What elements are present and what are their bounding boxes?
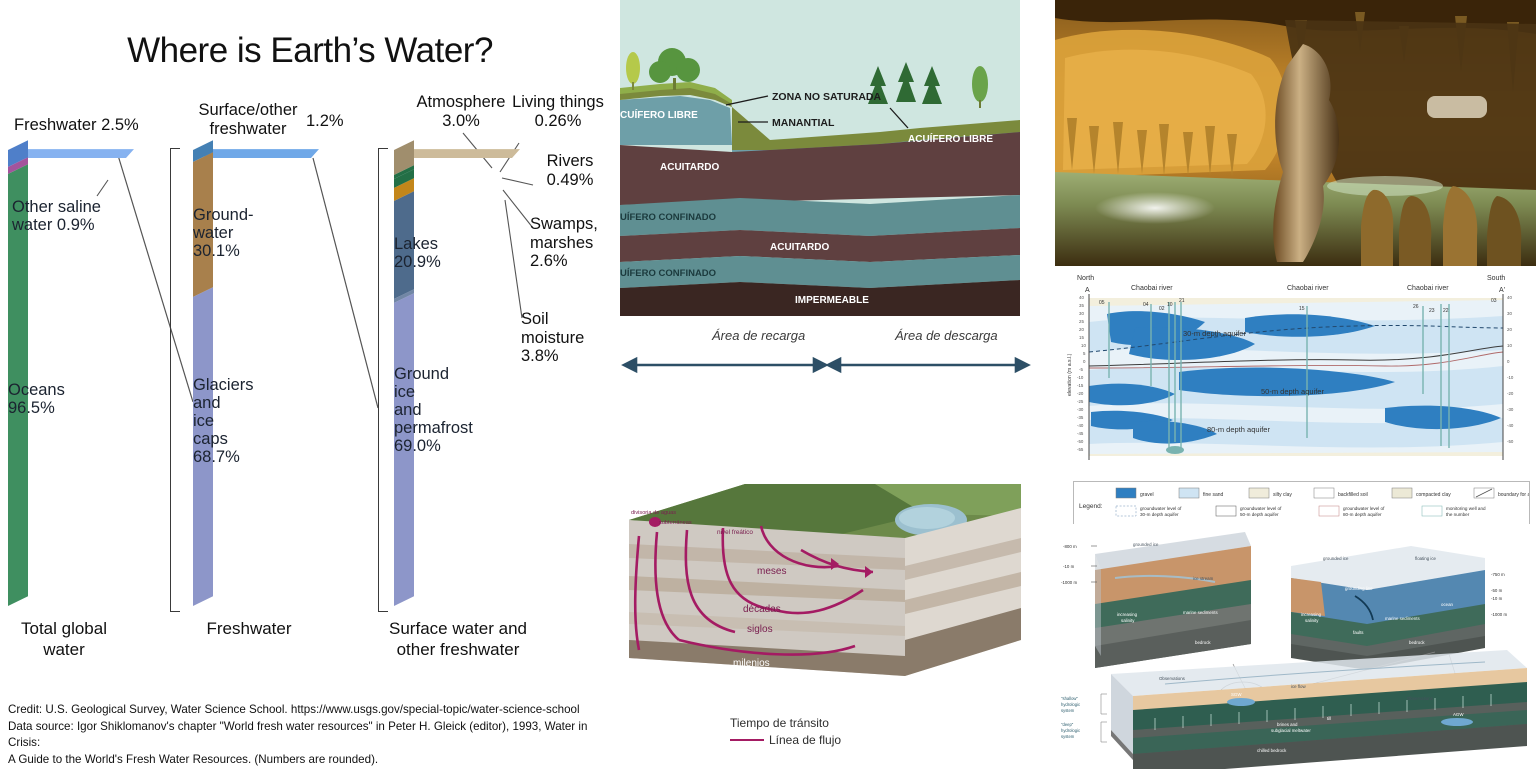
callout-soil-moisture: Soil moisture 3.8% <box>521 310 611 366</box>
callout-surface-other-value: 1.2% <box>306 112 344 131</box>
chaobai-cross-section-figure: North South A A' Chaobai river Chaobai r… <box>1055 266 1536 481</box>
svg-text:20: 20 <box>1507 327 1512 332</box>
recharge-discharge-row: Área de recarga Área de descarga <box>620 318 1033 388</box>
callout-living-things: Living things 0.26% <box>505 93 611 130</box>
svg-text:-10: -10 <box>1077 375 1084 380</box>
cross-section-legend: Legend: gravel fine sand silty clay back… <box>1073 481 1530 528</box>
callout-rivers: Rivers 0.49% <box>528 152 612 189</box>
credit-block: Credit: U.S. Geological Survey, Water Sc… <box>8 702 620 768</box>
axis-label-total-global-water-l1: Total global <box>0 618 128 639</box>
axis-label-total-global-water: Total global water <box>0 618 128 660</box>
depth-label-b-750: -750 m <box>1491 572 1505 577</box>
label-marine-sediments-b: marine sediments <box>1385 616 1420 621</box>
axis-label-surface-water-l1: Surface water and <box>378 618 538 639</box>
usgs-water-distribution-chart: Where is Earth’s Water? <box>0 0 620 769</box>
callout-swamps-l1: Swamps, <box>530 215 618 234</box>
label-grounding-line-b: grounding line <box>1345 586 1373 591</box>
label-grounded-ice-b: grounded ice <box>1323 556 1349 561</box>
legend-swatch-gw-50m <box>1216 506 1236 516</box>
svg-text:-55: -55 <box>1077 447 1084 452</box>
legend-label-gw-30m-l1: groundwater level of <box>1140 506 1182 511</box>
aquifer-svg: ZONA NO SATURADA MANANTIAL CUÍFERO LIBRE… <box>620 0 1020 316</box>
bar-total-global-water: Oceans 96.5% Other saline water 0.9% <box>8 150 136 610</box>
legend-swatch-compacted-clay <box>1392 488 1412 498</box>
well-number-22: 22 <box>1443 308 1449 314</box>
page-title: Where is Earth’s Water? <box>0 31 620 71</box>
bracket-freshwater <box>170 148 180 612</box>
label-acuifero-libre-left: CUÍFERO LIBRE <box>620 108 698 121</box>
transit-svg: divisoria de aguas subterráneas nivel fr… <box>625 480 1025 700</box>
legend-label-well-l2: the number <box>1446 512 1470 517</box>
label-elevation-axis: elevation (m a.s.l.) <box>1067 353 1073 396</box>
callout-atmosphere-value: 3.0% <box>411 112 511 131</box>
axis-label-surface-water: Surface water and other freshwater <box>378 618 538 660</box>
label-ice-stream-a: ice stream <box>1193 576 1214 581</box>
label-agw: AGW <box>1453 712 1464 717</box>
label-meses: meses <box>757 566 786 577</box>
svg-text:-25: -25 <box>1077 399 1084 404</box>
svg-text:35: 35 <box>1079 303 1084 308</box>
right-figure-column: North South A A' Chaobai river Chaobai r… <box>1055 0 1536 769</box>
well-number-26: 26 <box>1413 304 1419 310</box>
callout-surface-other-l2: freshwater <box>198 120 298 139</box>
well-number-03: 03 <box>1491 298 1497 304</box>
bar3-top-cap <box>404 149 520 158</box>
label-milenios: milenios <box>733 658 770 669</box>
legend-swatch-gw-30m <box>1116 506 1136 516</box>
svg-text:-30: -30 <box>1507 407 1514 412</box>
label-faults-b: faults <box>1353 630 1364 635</box>
label-chaobai-river-1: Chaobai river <box>1131 285 1173 292</box>
legend-label-gw-50m-l1: groundwater level of <box>1240 506 1282 511</box>
label-brines-2: subglacial meltwater <box>1271 728 1311 733</box>
callout-swamps-marshes: Swamps, marshes 2.6% <box>530 215 618 271</box>
callout-living-things-value: 0.26% <box>505 112 611 131</box>
callout-rivers-l1: Rivers <box>528 152 612 171</box>
label-bedrock-b: bedrock <box>1409 640 1425 645</box>
label-30m-aquifer: 30-m depth aquifer <box>1183 329 1246 338</box>
callout-soil-l1: Soil <box>521 310 611 329</box>
callout-rivers-value: 0.49% <box>528 171 612 190</box>
svg-text:-10: -10 <box>1507 375 1514 380</box>
callout-freshwater-2-5: Freshwater 2.5% <box>14 116 139 135</box>
cave-photograph <box>1055 0 1536 266</box>
legend-label-boundary-aquifer: boundary for aquifer <box>1498 492 1529 498</box>
label-acuitardo-2: ACUITARDO <box>770 242 829 253</box>
svg-text:20: 20 <box>1079 327 1084 332</box>
legend-label-fine-sand: fine sand <box>1203 492 1224 498</box>
callout-swamps-l2: marshes <box>530 234 618 253</box>
label-brines-1: brines and <box>1277 722 1298 727</box>
svg-text:-50: -50 <box>1077 439 1084 444</box>
axis-label-freshwater: Freshwater <box>185 618 313 639</box>
label-chilled-bedrock: chilled bedrock <box>1257 748 1287 753</box>
bar1-top-cap <box>18 149 134 158</box>
label-zona-no-saturada: ZONA NO SATURADA <box>772 91 881 103</box>
svg-text:-20: -20 <box>1077 391 1084 396</box>
callout-soil-value: 3.8% <box>521 347 611 366</box>
axis-label-total-global-water-l2: water <box>0 639 128 660</box>
svg-text:-35: -35 <box>1077 415 1084 420</box>
bar-freshwater: Ground- water 30.1% Glaciers and ice cap… <box>193 150 323 610</box>
legend-label-gravel: gravel <box>1140 492 1154 498</box>
depth-label-b-50: -50 m <box>1491 588 1503 593</box>
well-number-10: 10 <box>1167 302 1173 308</box>
label-deep-system-2: hydrologic <box>1061 728 1080 733</box>
legend-swatch-gravel <box>1116 488 1136 498</box>
label-grounded-ice-a: grounded ice <box>1133 542 1159 547</box>
svg-text:10: 10 <box>1081 343 1086 348</box>
legend-label-well-l1: monitoring well and <box>1446 506 1486 511</box>
callout-soil-l2: moisture <box>521 329 611 348</box>
svg-text:40: 40 <box>1507 295 1512 300</box>
label-sgw: SGW <box>1231 692 1242 697</box>
well-number-23: 23 <box>1429 308 1435 314</box>
label-bedrock-a: bedrock <box>1195 640 1211 645</box>
svg-text:30: 30 <box>1079 311 1084 316</box>
xsection-svg: North South A A' Chaobai river Chaobai r… <box>1055 266 1536 481</box>
transit-caption-title: Tiempo de tránsito <box>730 716 990 730</box>
transit-caption-legend: Línea de flujo <box>769 733 841 747</box>
svg-text:15: 15 <box>1079 335 1084 340</box>
bar2-top-cap <box>203 149 319 158</box>
well-number-15: 15 <box>1299 306 1305 312</box>
legend-svg: Legend: gravel fine sand silty clay back… <box>1074 482 1529 527</box>
label-deep-system-1: "deep" <box>1061 722 1074 727</box>
well-number-04: 04 <box>1143 302 1149 308</box>
legend-label-compacted-clay: compacted clay <box>1416 492 1451 498</box>
label-area-de-descarga: Área de descarga <box>895 328 998 343</box>
label-divisoria-2: subterráneas <box>659 520 692 526</box>
svg-text:-30: -30 <box>1077 407 1084 412</box>
svg-text:-50: -50 <box>1507 439 1514 444</box>
credit-line-2: Data source: Igor Shiklomanov's chapter … <box>8 719 620 752</box>
bracket-surface-water <box>378 148 388 612</box>
legend-swatch-monitoring-well <box>1422 506 1442 516</box>
svg-text:-5: -5 <box>1079 367 1083 372</box>
label-north: North <box>1077 275 1094 282</box>
legend-label-silty-clay: silty clay <box>1273 492 1292 498</box>
label-floating-ice-b: floating ice <box>1415 556 1437 561</box>
label-marine-sediments-a: marine sediments <box>1183 610 1218 615</box>
label-deep-system-3: system <box>1061 734 1075 739</box>
transit-time-block-figure: divisoria de aguas subterráneas nivel fr… <box>625 480 1025 700</box>
label-manantial: MANANTIAL <box>772 117 835 129</box>
callout-atmosphere-l1: Atmosphere <box>411 93 511 112</box>
label-observations-c2: Observations <box>1407 696 1434 701</box>
label-acuitardo-1: ACUITARDO <box>660 162 719 173</box>
legend-label-gw-30m-l2: 30-m depth aquifer <box>1140 512 1179 517</box>
well-number-21: 21 <box>1179 298 1185 304</box>
subglacial-hydrology-blocks: increasing salinity marine sediments bed… <box>1055 524 1536 769</box>
legend-label-backfilled-soil: backfilled soil <box>1338 492 1368 498</box>
aquifer-cross-section-figure: ZONA NO SATURADA MANANTIAL CUÍFERO LIBRE… <box>620 0 1020 316</box>
label-ice-flow-c: ice flow <box>1291 684 1306 689</box>
label-shallow-system-1: "shallow" <box>1061 696 1078 701</box>
slide-canvas: Where is Earth’s Water? <box>0 0 1536 769</box>
well-number-05: 05 <box>1099 300 1105 306</box>
svg-text:-20: -20 <box>1507 391 1514 396</box>
label-increasing-salinity-b2: salinity <box>1305 618 1319 623</box>
svg-text:30: 30 <box>1507 311 1512 316</box>
well-number-02: 02 <box>1159 306 1165 312</box>
bar-surface-water-and-other-freshwater: Lakes 20.9% Ground ice and permafrost 69… <box>394 150 524 610</box>
label-shallow-system-3: system <box>1061 708 1075 713</box>
label-divisoria-1: divisoria de aguas <box>631 510 676 516</box>
recharge-arrows <box>620 353 1033 377</box>
depth-label-b-1000: -1000 m <box>1491 612 1507 617</box>
transit-flow-legend: Línea de flujo <box>730 733 990 747</box>
callout-surface-other-freshwater: Surface/other freshwater <box>198 101 298 138</box>
svg-text:-40: -40 <box>1507 423 1514 428</box>
label-acuifero-libre-right: ACUÍFERO LIBRE <box>908 132 993 145</box>
svg-text:-15: -15 <box>1077 383 1084 388</box>
legend-swatch-silty-clay <box>1249 488 1269 498</box>
callout-surface-other-l1: Surface/other <box>198 101 298 120</box>
legend-label-gw-50m-l2: 50-m depth aquifer <box>1240 512 1279 517</box>
label-section-a-prime: A' <box>1499 287 1505 294</box>
callout-atmosphere: Atmosphere 3.0% <box>411 93 511 130</box>
label-section-a: A <box>1085 287 1090 294</box>
label-area-de-recarga: Área de recarga <box>712 328 805 343</box>
svg-text:-40: -40 <box>1077 423 1084 428</box>
svg-text:25: 25 <box>1079 319 1084 324</box>
depth-label-b-10: -10 m <box>1491 596 1503 601</box>
svg-text:40: 40 <box>1079 295 1084 300</box>
label-impermeable: IMPERMEABLE <box>795 295 869 306</box>
depth-label-a-800: -800 m <box>1063 544 1077 549</box>
middle-figure-column: ZONA NO SATURADA MANANTIAL CUÍFERO LIBRE… <box>620 0 1055 769</box>
label-acuifero-confinado-1: UÍFERO CONFINADO <box>620 212 716 223</box>
depth-label-a-10: -10 m <box>1063 564 1075 569</box>
label-decadas: décadas <box>743 604 781 615</box>
svg-text:10: 10 <box>1507 343 1512 348</box>
axis-label-freshwater-l1: Freshwater <box>185 618 313 639</box>
svg-text:-45: -45 <box>1077 431 1084 436</box>
legend-swatch-backfilled-soil <box>1314 488 1334 498</box>
label-50m-aquifer: 50-m depth aquifer <box>1261 387 1324 396</box>
callout-swamps-value: 2.6% <box>530 252 618 271</box>
label-chaobai-river-2: Chaobai river <box>1287 285 1329 292</box>
transit-time-caption: Tiempo de tránsito Línea de flujo <box>730 716 990 747</box>
label-south: South <box>1487 275 1505 282</box>
legend-title: Legend: <box>1079 503 1103 510</box>
axis-label-surface-water-l2: other freshwater <box>378 639 538 660</box>
label-nivel-freatico: nivel freático <box>717 529 753 536</box>
label-chaobai-river-3: Chaobai river <box>1407 285 1449 292</box>
label-increasing-salinity-b: increasing <box>1301 612 1322 617</box>
legend-swatch-gw-80m <box>1319 506 1339 516</box>
label-till: till <box>1327 716 1331 721</box>
label-siglos: siglos <box>747 624 773 635</box>
ice-blocks-svg: increasing salinity marine sediments bed… <box>1055 524 1536 769</box>
credit-line-3: A Guide to the World's Fresh Water Resou… <box>8 752 620 769</box>
label-increasing-salinity-a2: salinity <box>1121 618 1135 623</box>
legend-label-gw-80m-l1: groundwater level of <box>1343 506 1385 511</box>
flow-line-swatch <box>730 739 764 742</box>
label-80m-aquifer: 80-m depth aquifer <box>1207 425 1270 434</box>
label-ocean-b: ocean <box>1441 602 1454 607</box>
legend-swatch-fine-sand <box>1179 488 1199 498</box>
depth-label-a-1000: -1000 m <box>1061 580 1077 585</box>
label-increasing-salinity-a: increasing <box>1117 612 1138 617</box>
label-acuifero-confinado-2: UÍFERO CONFINADO <box>620 268 716 279</box>
cave-svg <box>1055 0 1536 266</box>
label-shallow-system-2: hydrologic <box>1061 702 1080 707</box>
credit-line-1: Credit: U.S. Geological Survey, Water Sc… <box>8 702 620 719</box>
legend-label-gw-80m-l2: 80-m depth aquifer <box>1343 512 1382 517</box>
label-observations-c: Observations <box>1159 676 1186 681</box>
callout-living-things-l1: Living things <box>505 93 611 112</box>
